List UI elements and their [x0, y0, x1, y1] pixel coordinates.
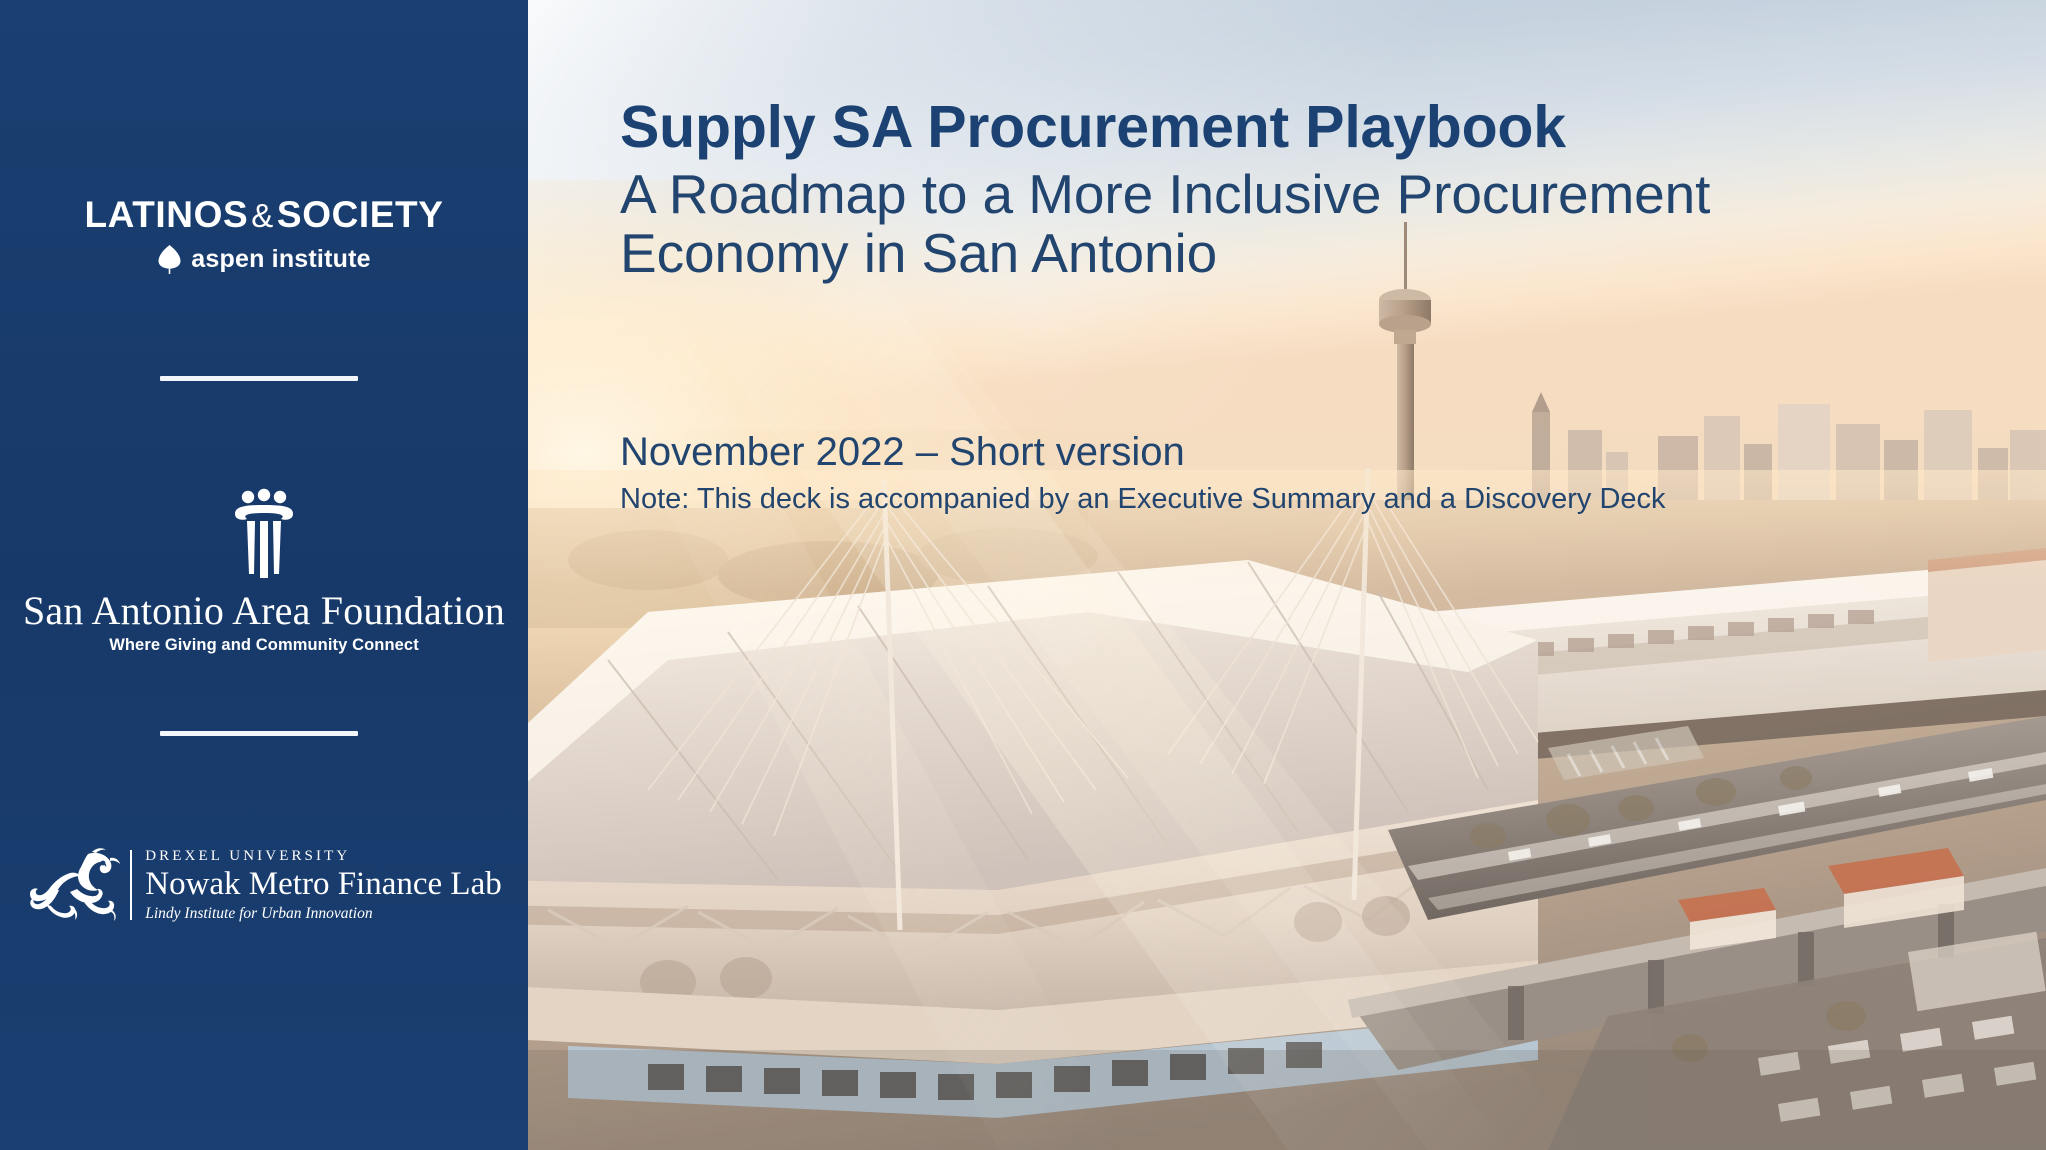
sidebar-divider-2 [160, 731, 358, 736]
drexel-university-label: DREXEL UNIVERSITY [145, 848, 501, 865]
title-slide: Supply SA Procurement Playbook A Roadmap… [0, 0, 2046, 1150]
subtitle-line-2: Economy in San Antonio [620, 224, 2020, 284]
logo-nowak-metro-finance-lab: DREXEL UNIVERSITY Nowak Metro Finance La… [0, 846, 528, 924]
title-group: Supply SA Procurement Playbook A Roadmap… [620, 96, 2020, 284]
column-figures-icon [227, 488, 301, 584]
nowak-text-block: DREXEL UNIVERSITY Nowak Metro Finance La… [145, 848, 501, 922]
aspen-wordmark-part2: SOCIETY [277, 194, 444, 235]
page-title: Supply SA Procurement Playbook [620, 96, 2020, 159]
nowak-lab-name: Nowak Metro Finance Lab [145, 866, 501, 903]
nowak-lockup: DREXEL UNIVERSITY Nowak Metro Finance La… [0, 846, 528, 924]
aspen-wordmark-part1: LATINOS [84, 194, 248, 235]
date-version-line: November 2022 – Short version [620, 428, 2020, 476]
companion-note: Note: This deck is accompanied by an Exe… [620, 482, 2020, 517]
aspen-leaf-icon [157, 244, 182, 274]
nowak-vertical-rule [130, 850, 132, 920]
aspen-wordmark: LATINOS&SOCIETY [0, 196, 528, 233]
logo-latinos-and-society: LATINOS&SOCIETY aspen institute [0, 196, 528, 274]
sidebar-divider-1 [160, 376, 358, 381]
drexel-dragon-icon [26, 846, 122, 924]
saaf-tagline: Where Giving and Community Connect [0, 636, 528, 655]
aspen-wordmark-amp: & [248, 197, 277, 234]
logo-sidebar: LATINOS&SOCIETY aspen institute [0, 0, 528, 1150]
subtitle-line-1: A Roadmap to a More Inclusive Procuremen… [620, 165, 2020, 225]
meta-group: November 2022 – Short version Note: This… [620, 428, 2020, 517]
saaf-name: San Antonio Area Foundation [0, 590, 528, 632]
aspen-institute-label: aspen institute [191, 247, 370, 272]
aspen-institute-lockup: aspen institute [0, 244, 528, 274]
lindy-institute-label: Lindy Institute for Urban Innovation [145, 905, 501, 922]
logo-san-antonio-area-foundation: San Antonio Area Foundation Where Giving… [0, 488, 528, 655]
